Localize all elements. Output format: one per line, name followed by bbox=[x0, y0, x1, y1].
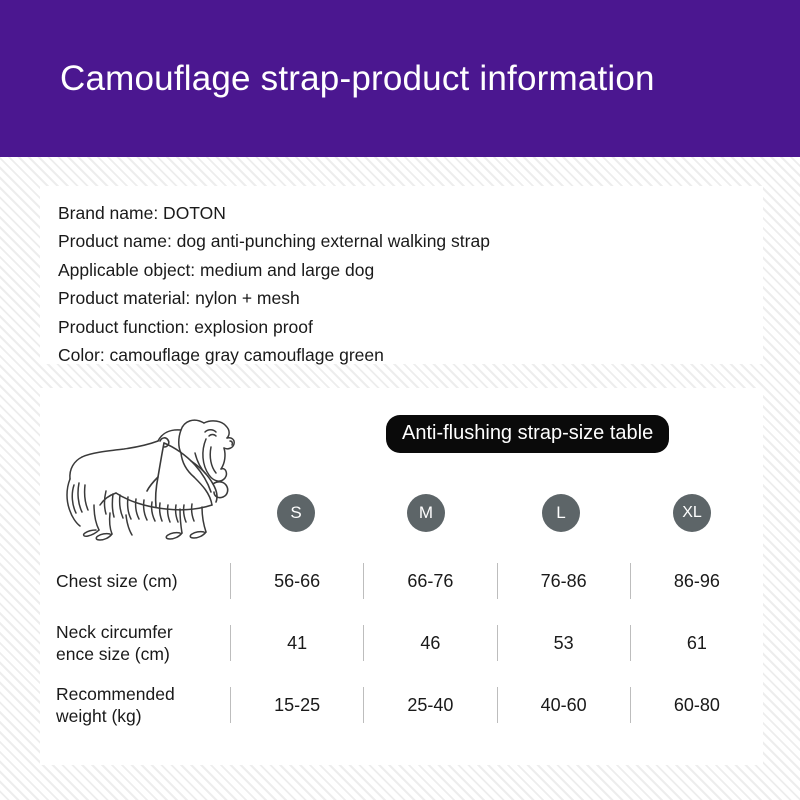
info-line-product-name: Product name: dog anti-punching external… bbox=[58, 227, 763, 255]
page-header-banner: Camouflage strap-product information bbox=[0, 0, 800, 157]
info-line-brand: Brand name: DOTON bbox=[58, 199, 763, 227]
cell-chest-s: 56-66 bbox=[231, 571, 363, 592]
product-info-page: Camouflage strap-product information Bra… bbox=[0, 0, 800, 800]
size-badge-l: L bbox=[542, 494, 580, 532]
info-line-applicable-object: Applicable object: medium and large dog bbox=[58, 256, 763, 284]
info-line-material: Product material: nylon + mesh bbox=[58, 284, 763, 312]
size-badge-row: S M L XL bbox=[40, 488, 763, 550]
product-info-card: Brand name: DOTON Product name: dog anti… bbox=[40, 186, 763, 364]
size-badge-s: S bbox=[277, 494, 315, 532]
size-badge-xl: XL bbox=[673, 494, 711, 532]
row-label-recommended-weight: Recommendedweight (kg) bbox=[40, 683, 230, 727]
row-label-neck-circumference: Neck circumference size (cm) bbox=[40, 621, 230, 665]
cell-chest-l: 76-86 bbox=[498, 571, 630, 592]
table-row-neck-circumference: Neck circumference size (cm) 41 46 53 61 bbox=[40, 612, 763, 674]
size-table-label: Anti-flushing strap-size table bbox=[386, 415, 669, 453]
size-badge-m: M bbox=[407, 494, 445, 532]
cell-neck-xl: 61 bbox=[631, 633, 763, 654]
table-row-recommended-weight: Recommendedweight (kg) 15-25 25-40 40-60… bbox=[40, 674, 763, 736]
info-line-function: Product function: explosion proof bbox=[58, 313, 763, 341]
cell-weight-l: 40-60 bbox=[498, 695, 630, 716]
cell-neck-l: 53 bbox=[498, 633, 630, 654]
cell-chest-xl: 86-96 bbox=[631, 571, 763, 592]
page-title: Camouflage strap-product information bbox=[60, 59, 655, 99]
cell-neck-m: 46 bbox=[364, 633, 496, 654]
info-line-color: Color: camouflage gray camouflage green bbox=[58, 341, 763, 369]
cell-weight-s: 15-25 bbox=[231, 695, 363, 716]
cell-chest-m: 66-76 bbox=[364, 571, 496, 592]
cell-neck-s: 41 bbox=[231, 633, 363, 654]
row-label-chest-size: Chest size (cm) bbox=[40, 570, 230, 592]
table-row-chest-size: Chest size (cm) 56-66 66-76 76-86 86-96 bbox=[40, 550, 763, 612]
product-info-list: Brand name: DOTON Product name: dog anti… bbox=[40, 186, 763, 369]
size-table-card: Anti-flushing strap-size table S M L XL … bbox=[40, 388, 763, 765]
cell-weight-xl: 60-80 bbox=[631, 695, 763, 716]
cell-weight-m: 25-40 bbox=[364, 695, 496, 716]
size-spec-table: Chest size (cm) 56-66 66-76 76-86 86-96 … bbox=[40, 550, 763, 736]
